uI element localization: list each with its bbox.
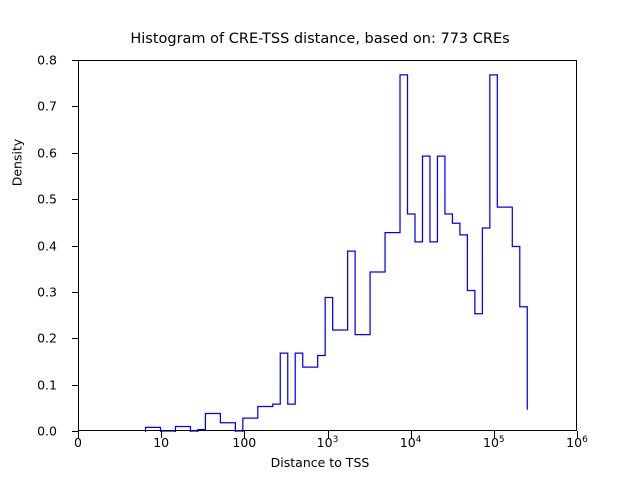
y-tick-label: 0.6 (17, 145, 57, 160)
chart-title: Histogram of CRE-TSS distance, based on:… (0, 31, 640, 47)
histogram-step-line (79, 61, 578, 432)
x-axis-label: Distance to TSS (0, 455, 640, 470)
y-tick-label: 0.7 (17, 99, 57, 114)
histogram-outline (146, 75, 528, 432)
y-tick-label: 0.1 (17, 377, 57, 392)
matplotlib-figure: Histogram of CRE-TSS distance, based on:… (0, 0, 640, 480)
plot-area (78, 60, 577, 431)
y-tick-label: 0.5 (17, 192, 57, 207)
y-tick-label: 0.2 (17, 331, 57, 346)
y-tick-label: 0.8 (17, 53, 57, 68)
y-tick-label: 0.3 (17, 284, 57, 299)
y-tick-label: 0.4 (17, 238, 57, 253)
